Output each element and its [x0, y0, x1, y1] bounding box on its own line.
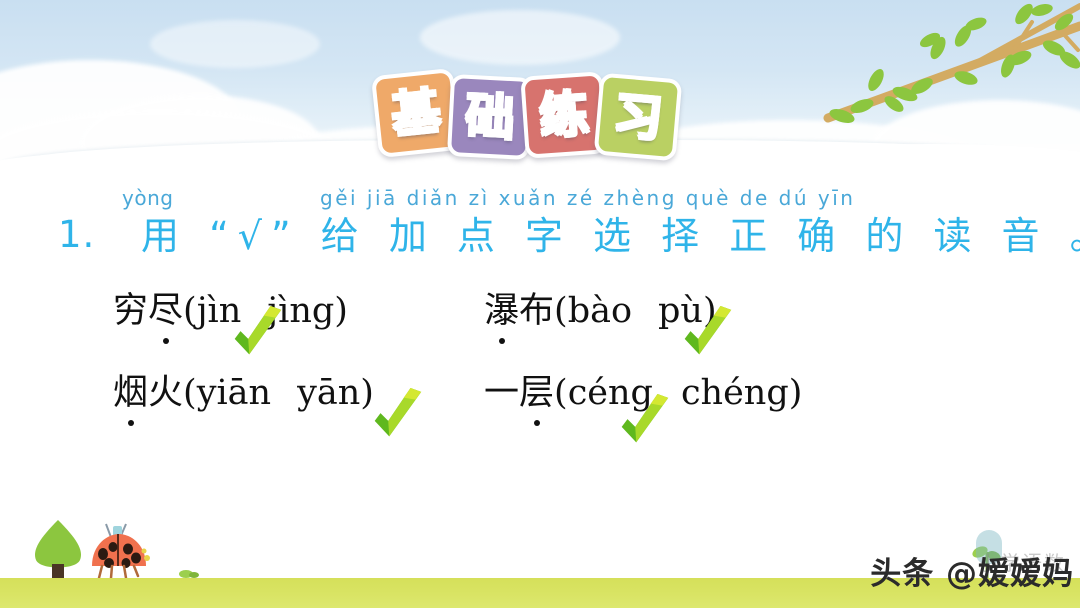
title-tile-char: 基: [389, 86, 443, 140]
exercise-list: 穷尽(jìnjìng) 瀑布(bàopù) 烟火(yiānyān): [0, 282, 1080, 446]
pinyin-option-b[interactable]: yān: [297, 373, 360, 413]
title-tile-4: 习: [594, 73, 683, 162]
checkmark-icon: [365, 386, 427, 448]
paren-close: ): [703, 291, 717, 331]
cloud-shape: [150, 20, 320, 68]
paren-close: ): [334, 291, 348, 331]
word-char-dotted: 层: [519, 364, 554, 415]
paren-open: (: [554, 291, 568, 331]
pinyin-option-a[interactable]: jìn: [197, 291, 242, 331]
ladybug-icon: [86, 518, 152, 580]
word-char: 布: [519, 291, 554, 331]
exercise-item-1[interactable]: 穷尽(jìnjìng): [113, 282, 348, 333]
word-char: 穷: [113, 291, 148, 331]
tree-icon: [28, 518, 88, 580]
paren-open: (: [183, 291, 197, 331]
pinyin-option-a[interactable]: céng: [568, 373, 653, 413]
exercise-item-4[interactable]: 一层(céngchéng): [484, 364, 802, 415]
watermark-text: 头条 @嫒嫒妈: [870, 548, 1074, 593]
watermark: 头条 @嫒嫒妈: [870, 544, 1074, 596]
paren-open: (: [554, 373, 568, 413]
cloud-shape: [420, 10, 620, 65]
pinyin-option-a[interactable]: yiān: [197, 373, 271, 413]
pinyin-option-b[interactable]: chéng: [681, 373, 789, 413]
word-char-dotted: 烟: [113, 364, 148, 415]
word-char: 一: [484, 373, 519, 413]
title-tile-char: 习: [611, 90, 664, 143]
question-text: 用 “√” 给 加 点 字 选 择 正 确 的 读 音 。: [141, 205, 1080, 260]
page-title: 基 础 练 习: [375, 72, 679, 158]
exercise-item-3[interactable]: 烟火(yiānyān): [113, 364, 374, 415]
pinyin-option-b[interactable]: pù: [658, 291, 703, 331]
pinyin-option-b[interactable]: jìng: [267, 291, 334, 331]
pinyin-option-a[interactable]: bào: [568, 291, 632, 331]
paren-close: ): [789, 373, 803, 413]
word-char: 火: [148, 373, 183, 413]
question-number: 1.: [58, 213, 95, 256]
paren-open: (: [183, 373, 197, 413]
word-char-dotted: 尽: [148, 282, 183, 333]
exercise-row: 穷尽(jìnjìng) 瀑布(bàopù): [0, 282, 1080, 364]
title-tile-char: 练: [538, 89, 590, 141]
paper-edge: [740, 144, 1080, 184]
title-tile-char: 础: [464, 91, 516, 142]
slide-root: 基 础 练 习 yòng gěi jiā diǎn zì xuǎn zé zhè…: [0, 0, 1080, 608]
exercise-row: 烟火(yiānyān) 一层(céngchéng): [0, 364, 1080, 446]
exercise-item-2[interactable]: 瀑布(bàopù): [484, 282, 717, 333]
word-char-dotted: 瀑: [484, 282, 519, 333]
question-line: yòng gěi jiā diǎn zì xuǎn zé zhèng què d…: [58, 186, 1038, 258]
paren-close: ): [360, 373, 374, 413]
